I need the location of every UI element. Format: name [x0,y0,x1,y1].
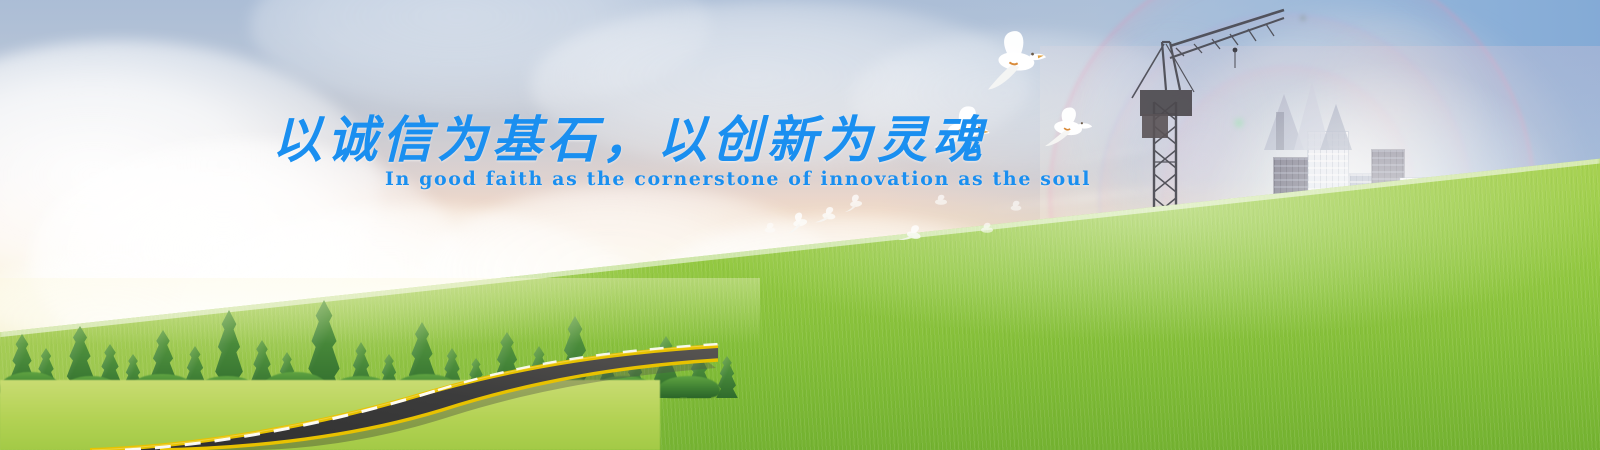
dove-icon [1039,103,1095,150]
dove-icon [972,23,1052,94]
dove-icon-small [976,222,996,236]
banner-headline-chinese: 以诚信为基石，以创新为灵魂 [272,100,987,172]
lens-flare-dot [1299,14,1307,22]
dove-icon-small [1006,200,1024,214]
road-surface [0,330,720,450]
company-banner: 以诚信为基石，以创新为灵魂 In good faith as the corne… [0,0,1600,450]
dove-icon-small [930,194,950,208]
dove-icon-small [815,204,841,225]
dove-icon-small [760,222,778,236]
banner-subline-english: In good faith as the cornerstone of inno… [385,168,1091,190]
road [0,330,720,450]
dove-icon-small [843,193,867,213]
